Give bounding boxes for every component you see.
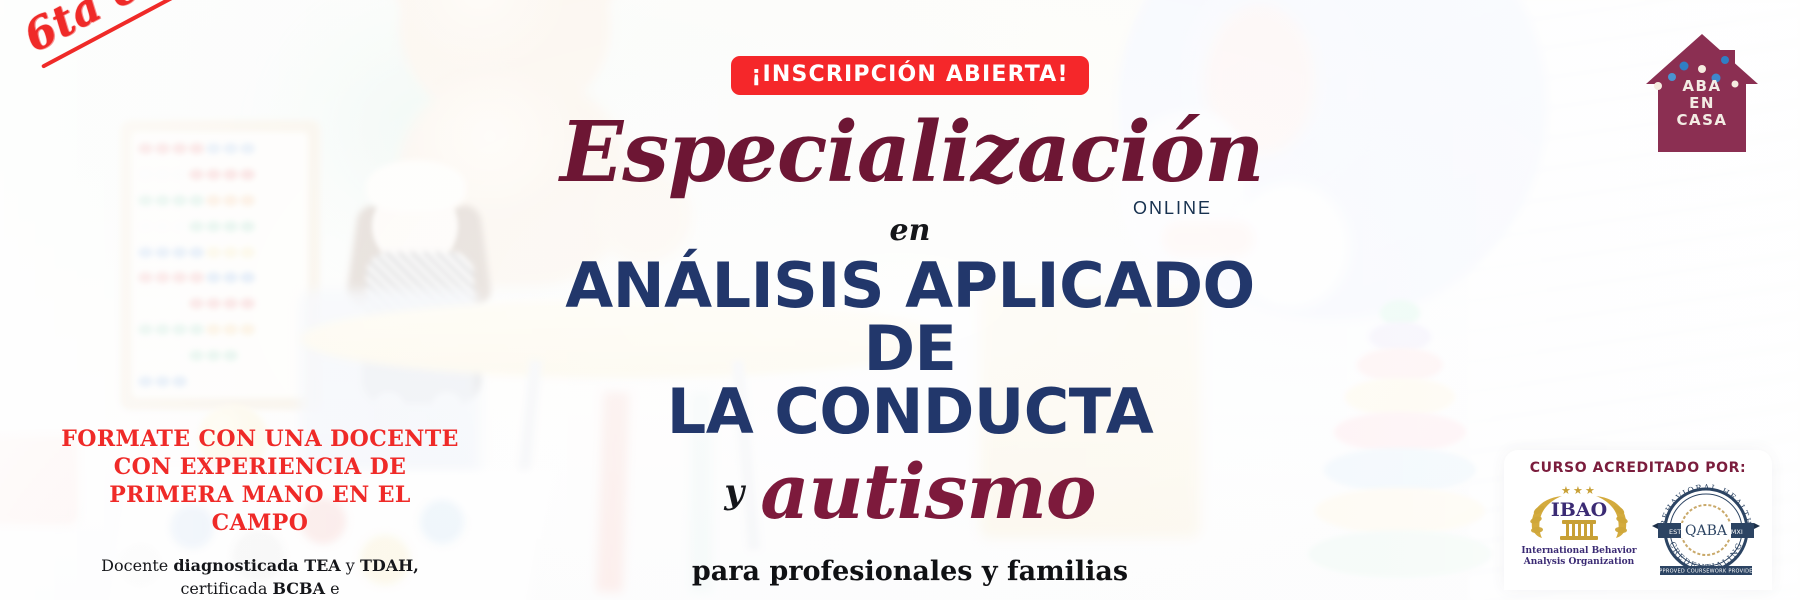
ibao-acronym: IBAO — [1551, 499, 1607, 521]
aba-en-casa-logo[interactable]: ABA EN CASA — [1642, 30, 1762, 158]
course-headline: ANÁLISIS APLICADO DE LA CONDUCTA — [560, 254, 1260, 444]
course-type-script: Especialización ONLINE — [560, 111, 1260, 194]
course-headline-line2: LA CONDUCTA — [560, 380, 1260, 443]
ibao-caption-line1: International Behavior — [1516, 546, 1642, 557]
qaba-acronym: QABA — [1685, 523, 1728, 539]
edition-stamp: 6ta edición — [18, 0, 285, 69]
teacher-headline-line1: FORMATE CON UNA DOCENTE — [60, 425, 460, 453]
teacher-headline: FORMATE CON UNA DOCENTE CON EXPERIENCIA … — [60, 425, 460, 538]
qaba-logo-icon: BEHAVIORAL HEALTH CREDENTIALING QABA EST… — [1652, 482, 1760, 576]
ibao-caption: International Behavior Analysis Organiza… — [1516, 546, 1642, 569]
cred-strong: TDAH, — [360, 556, 419, 575]
accreditation-card: CURSO ACREDITADO POR: ★ ★ ★ — [1504, 450, 1772, 590]
cred-strong: diagnosticada TEA — [173, 556, 340, 575]
cred-text: y — [341, 556, 360, 575]
svg-text:★: ★ — [1585, 484, 1595, 497]
teacher-headline-line2: CON EXPERIENCIA DE — [60, 453, 460, 481]
ibao-seal[interactable]: ★ ★ ★ — [1516, 482, 1642, 569]
course-headline-line1: ANÁLISIS APLICADO DE — [560, 254, 1260, 380]
svg-text:★: ★ — [1573, 484, 1583, 497]
svg-text:★: ★ — [1561, 484, 1571, 497]
enrollment-open-badge[interactable]: ¡INSCRIPCIÓN ABIERTA! — [731, 56, 1089, 95]
qaba-seal[interactable]: BEHAVIORAL HEALTH CREDENTIALING QABA EST… — [1652, 482, 1760, 581]
teacher-credentials: Docente diagnosticada TEA y TDAH, certif… — [60, 554, 460, 600]
qaba-est: EST. — [1669, 528, 1683, 536]
main-title-block: ¡INSCRIPCIÓN ABIERTA! Especialización ON… — [560, 0, 1260, 600]
logo-line-3: CASA — [1642, 112, 1762, 129]
autismo-script: autismo — [760, 454, 1095, 530]
aba-en-casa-label: ABA EN CASA — [1642, 78, 1762, 128]
banner-content: 6ta edición ¡INSCRIPCIÓN ABIERTA! Especi… — [0, 0, 1800, 600]
teacher-credentials-line1: Docente diagnosticada TEA y TDAH, certif… — [60, 554, 460, 600]
qaba-mmxi: MMXI — [1725, 528, 1743, 536]
connector-en: en — [560, 216, 1260, 246]
ibao-caption-line2: Analysis Organization — [1516, 557, 1642, 568]
ibao-logo-icon: ★ ★ ★ — [1516, 482, 1642, 540]
cred-text: Docente — [101, 556, 173, 575]
course-type-label: Especialización — [560, 103, 1263, 201]
connector-y: y — [724, 475, 744, 509]
pillar-icon — [1560, 520, 1598, 540]
accreditation-title: CURSO ACREDITADO POR: — [1516, 460, 1760, 476]
logo-line-1: ABA — [1642, 78, 1762, 95]
accreditation-seals: ★ ★ ★ — [1516, 482, 1760, 581]
teacher-headline-line3: PRIMERA MANO EN EL CAMPO — [60, 481, 460, 537]
teacher-block: FORMATE CON UNA DOCENTE CON EXPERIENCIA … — [60, 425, 460, 600]
promo-banner: 6ta edición ¡INSCRIPCIÓN ABIERTA! Especi… — [0, 0, 1800, 600]
logo-line-2: EN — [1642, 95, 1762, 112]
online-label: ONLINE — [1133, 199, 1212, 217]
autism-line: y autismo — [560, 454, 1260, 530]
audience-tagline: para profesionales y familias — [560, 556, 1260, 587]
cred-strong: BCBA — [272, 579, 325, 598]
cred-text: e — [325, 579, 340, 598]
cred-text: certificada — [180, 579, 272, 598]
qaba-banner-text: APPROVED COURSEWORK PROVIDER — [1655, 569, 1756, 575]
